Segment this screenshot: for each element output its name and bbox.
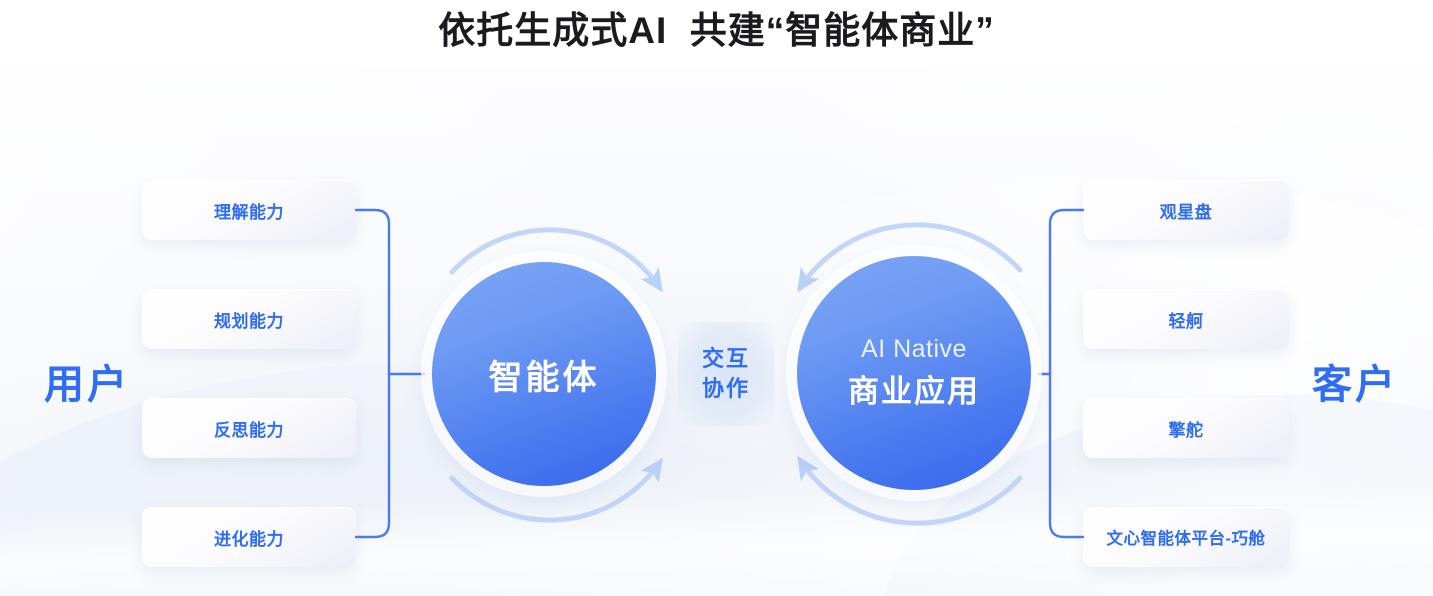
card-right-qingge[interactable]: 轻舸 xyxy=(1083,289,1289,349)
interaction-line-2: 协作 xyxy=(702,374,750,404)
circle-agent[interactable]: 智能体 xyxy=(432,262,656,486)
interaction-collaboration-label: 交互 协作 xyxy=(678,322,774,426)
card-left-planning[interactable]: 规划能力 xyxy=(142,289,356,349)
interaction-line-1: 交互 xyxy=(702,344,750,374)
card-left-evolution[interactable]: 进化能力 xyxy=(142,507,356,567)
card-right-qingduo[interactable]: 擎舵 xyxy=(1083,398,1289,458)
slide-canvas: 依托生成式AI 共建“智能体商业” 用户 客户 理解能力 规划能力 反思能力 进… xyxy=(0,0,1433,596)
circle-app-label: 商业应用 xyxy=(848,366,980,411)
card-left-reflection[interactable]: 反思能力 xyxy=(142,398,356,458)
circle-ai-native-app[interactable]: AI Native 商业应用 xyxy=(797,256,1031,490)
card-right-guanxingpan[interactable]: 观星盘 xyxy=(1083,180,1289,240)
circle-app-sublabel: AI Native xyxy=(861,335,967,364)
label-users: 用户 xyxy=(44,352,130,410)
card-left-understanding[interactable]: 理解能力 xyxy=(142,180,356,240)
circle-agent-label: 智能体 xyxy=(489,350,600,399)
label-clients: 客户 xyxy=(1312,352,1398,410)
page-title: 依托生成式AI 共建“智能体商业” xyxy=(0,8,1433,54)
card-right-qiaocang[interactable]: 文心智能体平台-巧舱 xyxy=(1083,507,1289,567)
